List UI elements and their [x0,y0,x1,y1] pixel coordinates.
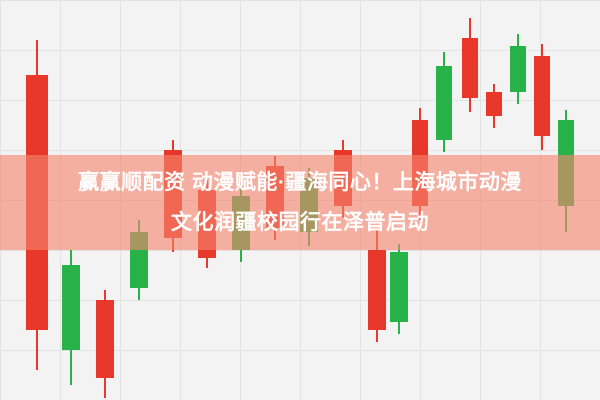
stock-chart-image: 赢赢顺配资 动漫赋能·疆海同心！上海城市动漫 文化润疆校园行在泽普启动 [0,0,600,400]
candlestick-body [96,300,114,378]
candlestick-body [510,46,526,92]
candlestick-body [62,265,80,350]
candlestick-body [486,92,502,116]
candlestick-body [534,56,550,136]
candlestick-body [368,250,386,330]
candlestick-body [462,38,478,98]
headline-line-2: 文化润疆校园行在泽普启动 [171,203,429,243]
candlestick-body [436,66,452,140]
headline-line-1: 赢赢顺配资 动漫赋能·疆海同心！上海城市动漫 [78,163,522,203]
headline-overlay-band: 赢赢顺配资 动漫赋能·疆海同心！上海城市动漫 文化润疆校园行在泽普启动 [0,155,600,250]
candlestick-body [390,252,408,322]
